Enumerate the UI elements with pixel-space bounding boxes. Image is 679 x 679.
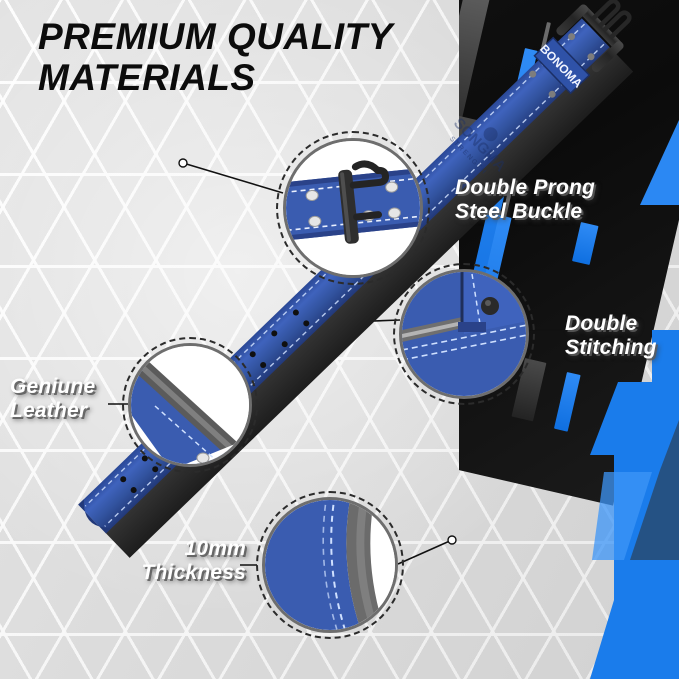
callout-stitching-closeup [399, 269, 529, 399]
callout-buckle-closeup [283, 138, 423, 278]
feature-label-10mm-thickness: 10mm Thickness [86, 537, 246, 586]
feature-label-double-stitching: Double Stitching [565, 312, 679, 361]
callout-thickness-closeup [262, 497, 398, 633]
feature-label-double-prong-steel-buckle: Double Prong Steel Buckle [455, 176, 665, 225]
feature-label-geniune-leather: Geniune Leather [10, 375, 160, 424]
infographic-canvas: Premium Quality Materials [0, 0, 679, 679]
